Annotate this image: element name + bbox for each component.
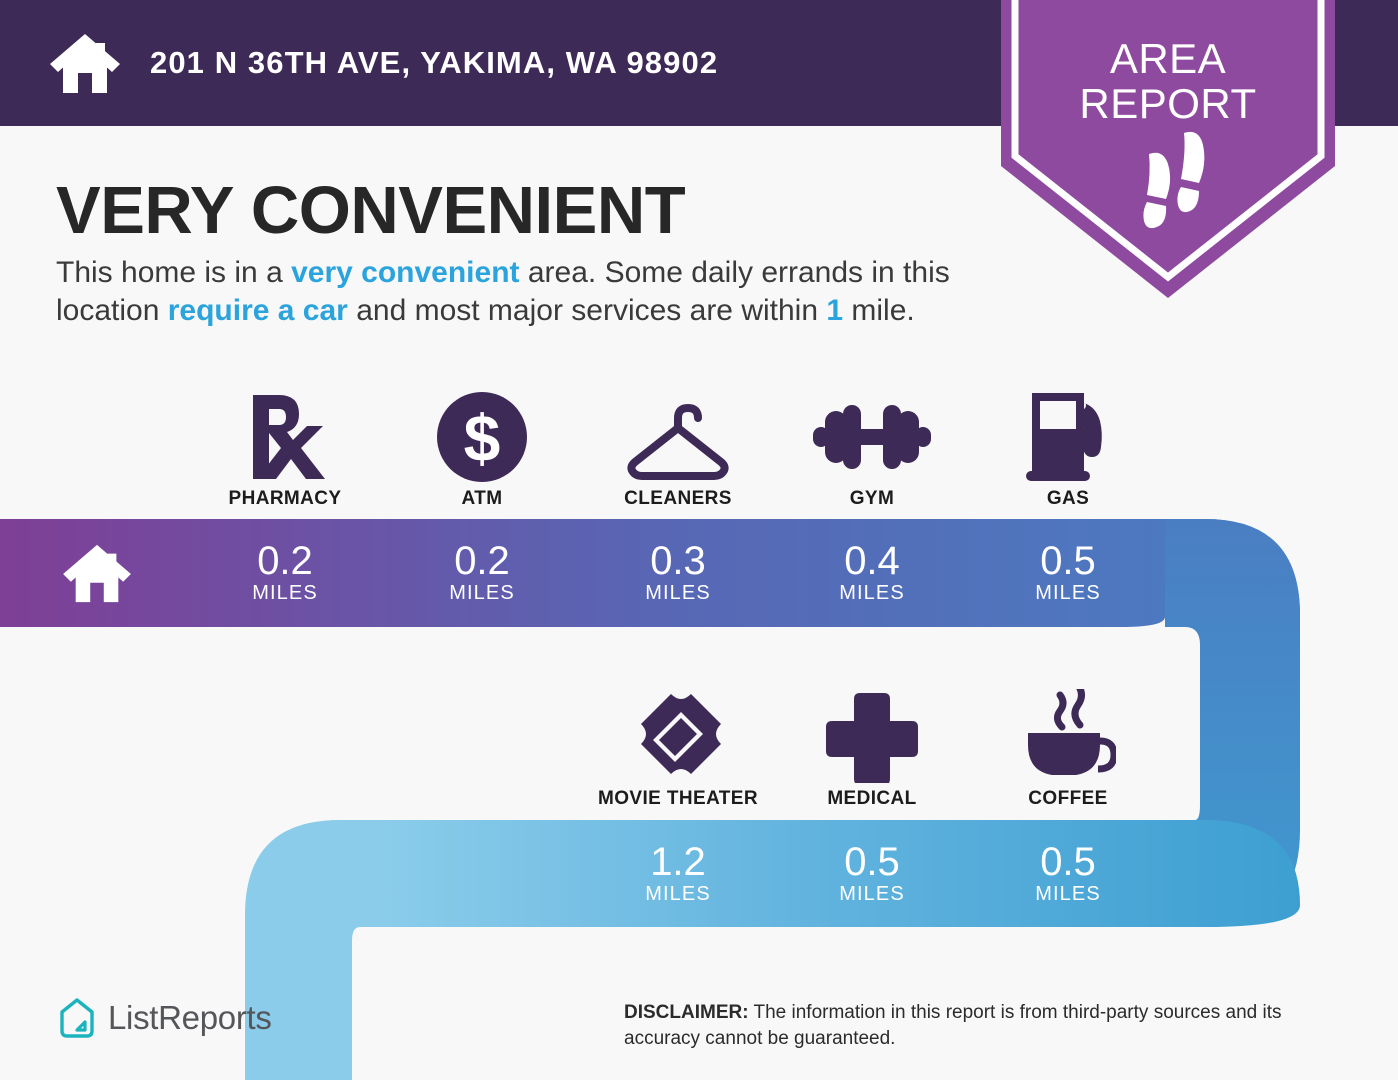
distance-value: 0.5 [1040, 842, 1096, 882]
distance-value: 0.4 [844, 541, 900, 581]
badge-line-1: AREA [1001, 36, 1335, 81]
distance-unit: MILES [1035, 882, 1101, 906]
medical-cross-icon [826, 689, 918, 784]
area-report-badge: AREA REPORT [1001, 0, 1335, 298]
listreports-house-icon [58, 997, 96, 1039]
distance-cell-movie-theater: 1.2 MILES [580, 820, 776, 928]
svg-text:$: $ [464, 401, 501, 475]
amenity-label: MOVIE THEATER [598, 788, 758, 810]
distance-cell-medical: 0.5 MILES [774, 820, 970, 928]
amenity-coffee: COFFEE [970, 670, 1166, 810]
distance-unit: MILES [1035, 581, 1101, 605]
amenity-label: MEDICAL [827, 788, 916, 810]
distance-value: 0.2 [257, 541, 313, 581]
distance-cell-atm: 0.2 MILES [384, 519, 580, 627]
distance-cell-gym: 0.4 MILES [774, 519, 970, 627]
distance-unit: MILES [839, 581, 905, 605]
summary-part-4: mile. [843, 294, 915, 327]
distance-unit: MILES [839, 882, 905, 906]
summary-text: This home is in a very convenient area. … [56, 254, 996, 330]
distance-cell-pharmacy: 0.2 MILES [187, 519, 383, 627]
dumbbell-icon [813, 389, 931, 484]
disclaimer: DISCLAIMER: The information in this repo… [624, 1000, 1348, 1052]
listreports-logo: ListReports [58, 997, 272, 1039]
distance-row-2: 1.2 MILES 0.5 MILES 0.5 MILES [0, 820, 1398, 928]
distance-value: 0.2 [454, 541, 510, 581]
summary-emphasis-2: require a car [168, 294, 348, 327]
dollar-circle-icon: $ [437, 389, 527, 484]
amenity-label: GYM [850, 488, 894, 510]
amenity-medical: MEDICAL [774, 670, 970, 810]
distance-row-1: 0.2 MILES 0.2 MILES 0.3 MILES 0.4 MILES … [0, 519, 1398, 627]
amenity-cleaners: CLEANERS [580, 370, 776, 510]
badge-line-2: REPORT [1001, 81, 1335, 126]
distance-cell-gas: 0.5 MILES [970, 519, 1166, 627]
distance-unit: MILES [645, 581, 711, 605]
amenities-icons-row-1: PHARMACY $ ATM CLEANERS [0, 370, 1398, 510]
listreports-logo-text: ListReports [108, 999, 272, 1037]
page-title: VERY CONVENIENT [56, 172, 685, 249]
distance-value: 0.3 [650, 541, 706, 581]
distance-value: 1.2 [650, 842, 706, 882]
amenities-icons-row-2: MOVIE THEATER MEDICAL COFFEE [0, 670, 1398, 810]
distance-unit: MILES [645, 882, 711, 906]
amenity-gym: GYM [774, 370, 970, 510]
header-address: 201 N 36TH AVE, YAKIMA, WA 98902 [150, 45, 718, 81]
amenity-gas: GAS [970, 370, 1166, 510]
distance-cell-coffee: 0.5 MILES [970, 820, 1166, 928]
badge-title: AREA REPORT [1001, 36, 1335, 126]
amenity-label: ATM [462, 488, 503, 510]
distance-value: 0.5 [844, 842, 900, 882]
amenity-label: GAS [1047, 488, 1089, 510]
home-icon [48, 31, 122, 95]
summary-emphasis-3: 1 [826, 294, 843, 327]
amenity-label: PHARMACY [229, 488, 342, 510]
distance-value: 0.5 [1040, 541, 1096, 581]
rx-icon [245, 389, 325, 484]
ticket-icon [631, 689, 725, 784]
distance-unit: MILES [449, 581, 515, 605]
summary-emphasis-1: very convenient [291, 256, 519, 289]
distance-cell-cleaners: 0.3 MILES [580, 519, 776, 627]
disclaimer-label: DISCLAIMER: [624, 1002, 749, 1023]
summary-part-3: and most major services are within [348, 294, 827, 327]
amenity-label: CLEANERS [624, 488, 732, 510]
amenity-movie-theater: MOVIE THEATER [580, 670, 776, 810]
hanger-icon [623, 389, 733, 484]
coffee-cup-icon [1020, 689, 1116, 784]
amenity-pharmacy: PHARMACY [187, 370, 383, 510]
amenity-label: COFFEE [1028, 788, 1107, 810]
distance-unit: MILES [252, 581, 318, 605]
summary-part-1: This home is in a [56, 256, 291, 289]
amenity-atm: $ ATM [384, 370, 580, 510]
gas-pump-icon [1024, 389, 1112, 484]
